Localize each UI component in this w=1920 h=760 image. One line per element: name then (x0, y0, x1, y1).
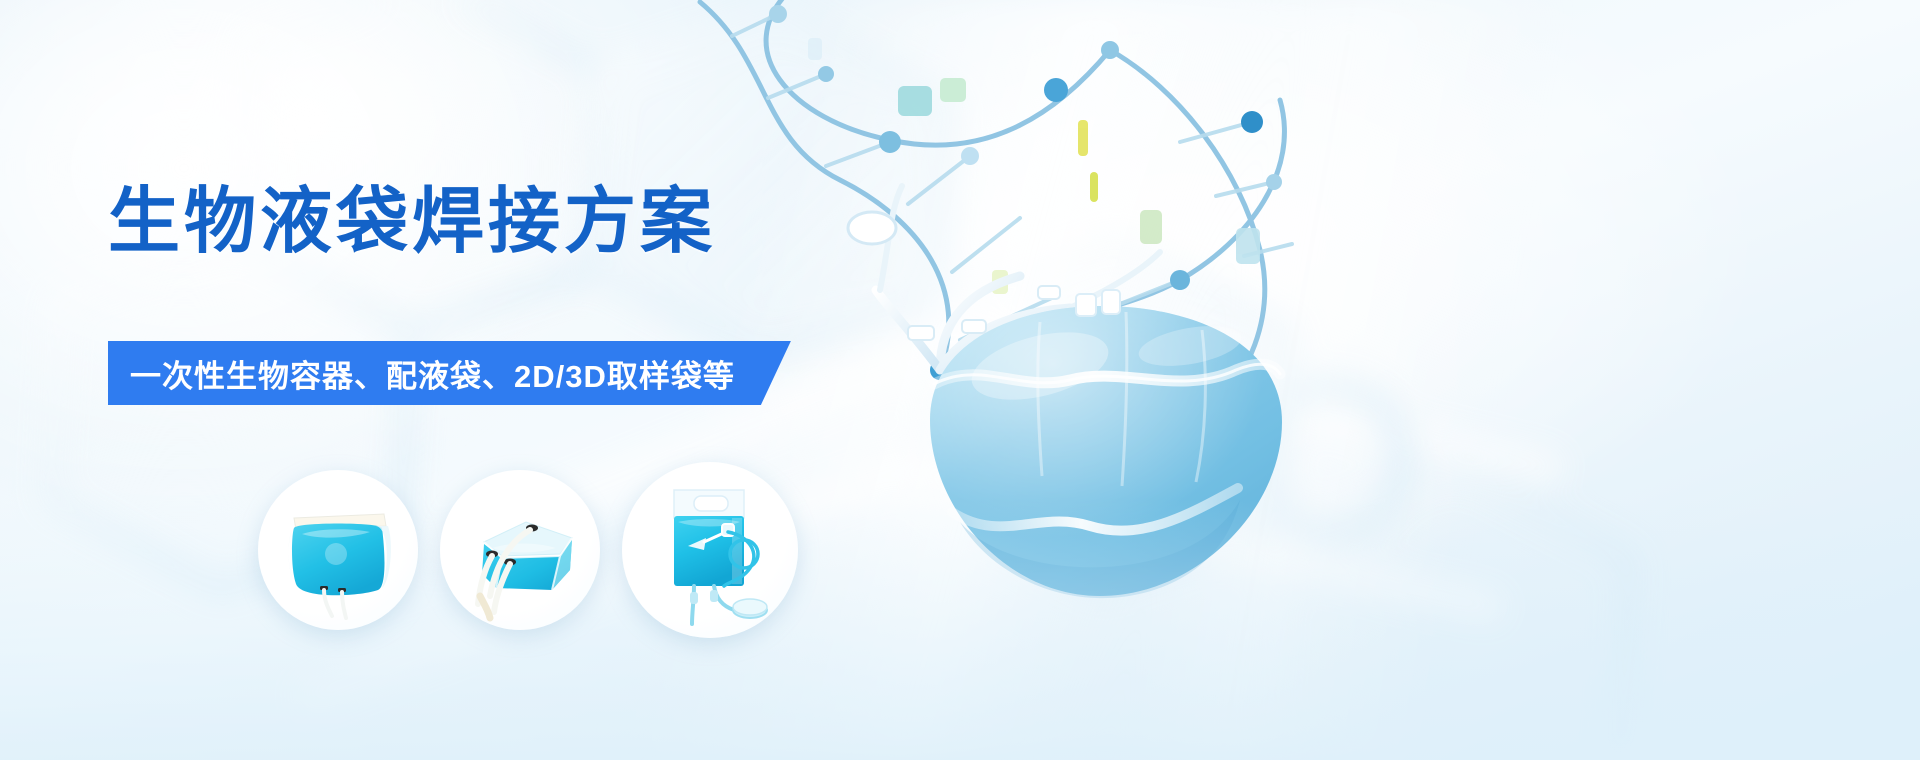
headline-group: 生物液袋焊接方案 (108, 186, 716, 258)
page-title: 生物液袋焊接方案 (108, 186, 716, 258)
cube-liquid-bag-with-tubes-icon (440, 470, 600, 630)
subtitle-banner: 一次性生物容器、配液袋、2D/3D取样袋等 (108, 341, 791, 405)
square-liquid-bag-icon (258, 470, 418, 630)
product-circle-3[interactable] (622, 462, 798, 638)
product-thumbnails (258, 470, 958, 640)
background-glow-left (0, 0, 640, 540)
product-circle-1[interactable] (258, 470, 418, 630)
subtitle-text: 一次性生物容器、配液袋、2D/3D取样袋等 (130, 351, 735, 396)
product-circle-2[interactable] (440, 470, 600, 630)
handle-sampling-bag-icon (622, 462, 798, 638)
hero-banner: 生物液袋焊接方案 一次性生物容器、配液袋、2D/3D取样袋等 (0, 0, 1920, 760)
